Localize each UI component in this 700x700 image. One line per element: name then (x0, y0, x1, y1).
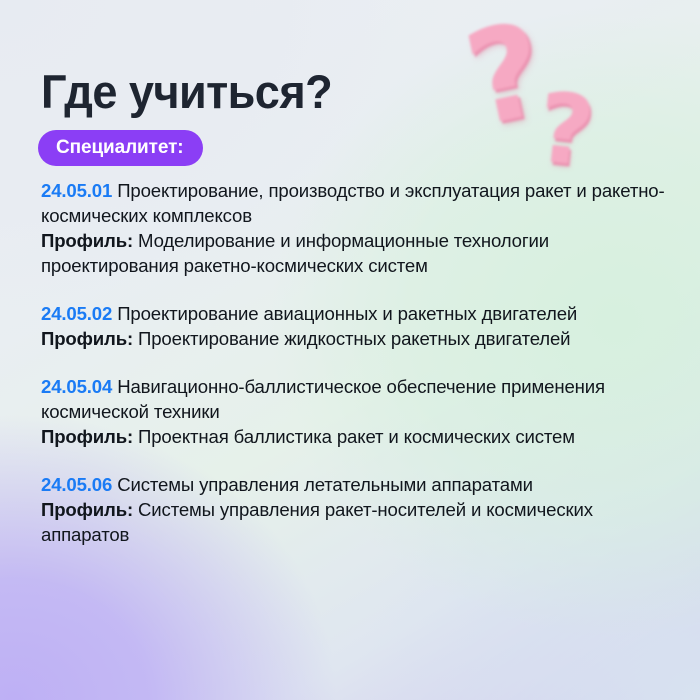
status-badge-label: Специалитет: (56, 137, 184, 159)
program-profile-line: Профиль: Системы управления ракет-носите… (41, 497, 666, 547)
program-name: Проектирование авиационных и ракетных дв… (112, 303, 577, 324)
program-code: 24.05.02 (41, 303, 112, 324)
program-item: 24.05.04 Навигационно-баллистическое обе… (41, 374, 666, 449)
program-name-line: 24.05.01 Проектирование, производство и … (41, 178, 666, 228)
program-item: 24.05.06 Системы управления летательными… (41, 472, 666, 547)
profile-value: Проектная баллистика ракет и космических… (133, 426, 575, 447)
profile-value: Проектирование жидкостных ракетных двига… (133, 328, 570, 349)
profile-label: Профиль: (41, 328, 133, 349)
program-name: Системы управления летательными аппарата… (112, 474, 533, 495)
program-name: Навигационно-баллистическое обеспечение … (41, 376, 605, 422)
program-item: 24.05.01 Проектирование, производство и … (41, 178, 666, 278)
program-code: 24.05.04 (41, 376, 112, 397)
program-profile-line: Профиль: Моделирование и информационные … (41, 228, 666, 278)
page-title: Где учиться? (41, 64, 332, 119)
program-name-line: 24.05.02 Проектирование авиационных и ра… (41, 301, 666, 326)
program-name-line: 24.05.04 Навигационно-баллистическое обе… (41, 374, 666, 424)
profile-label: Профиль: (41, 230, 133, 251)
status-badge-specialitet: Специалитет: (38, 130, 203, 166)
program-name-line: 24.05.06 Системы управления летательными… (41, 472, 666, 497)
program-name: Проектирование, производство и эксплуата… (41, 180, 665, 226)
program-list: 24.05.01 Проектирование, производство и … (41, 178, 666, 547)
program-profile-line: Профиль: Проектирование жидкостных ракет… (41, 326, 666, 351)
program-code: 24.05.01 (41, 180, 112, 201)
program-item: 24.05.02 Проектирование авиационных и ра… (41, 301, 666, 351)
question-mark-icon-small: ? (533, 79, 598, 180)
program-code: 24.05.06 (41, 474, 112, 495)
profile-label: Профиль: (41, 426, 133, 447)
program-profile-line: Профиль: Проектная баллистика ракет и ко… (41, 424, 666, 449)
profile-label: Профиль: (41, 499, 133, 520)
poster-canvas: ? ? Где учиться? Специалитет: 24.05.01 П… (0, 0, 700, 700)
